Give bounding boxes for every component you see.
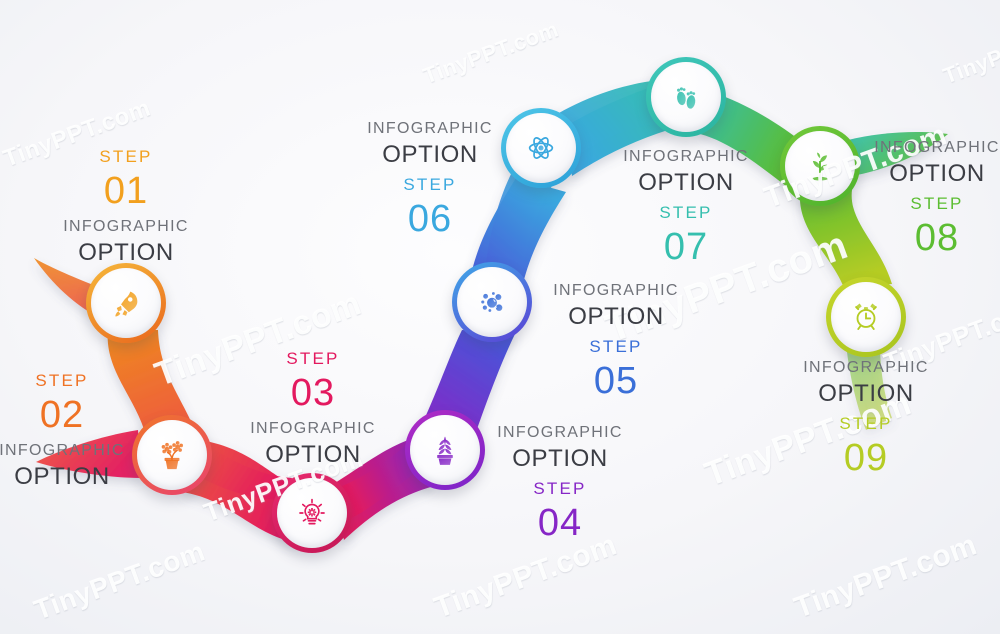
step-word-09: STEP xyxy=(756,415,976,432)
step-number-02: 02 xyxy=(0,396,172,434)
step-word-05: STEP xyxy=(506,338,726,355)
step-node-disc-07 xyxy=(651,62,721,132)
step-infographic-06: INFOGRAPHIC xyxy=(320,121,540,137)
footprints-icon xyxy=(669,80,703,114)
step-node-disc-09 xyxy=(831,282,901,352)
step-text-04: INFOGRAPHICOPTIONSTEP04 xyxy=(450,425,670,542)
lightbulb-gear-icon xyxy=(295,496,329,530)
step-infographic-07: INFOGRAPHIC xyxy=(576,149,796,165)
step-word-06: STEP xyxy=(320,176,540,193)
step-text-09: INFOGRAPHICOPTIONSTEP09 xyxy=(756,360,976,477)
step-text-06: INFOGRAPHICOPTIONSTEP06 xyxy=(320,121,540,238)
step-number-03: 03 xyxy=(203,374,423,412)
step-number-01: 01 xyxy=(16,172,236,210)
step-node-03[interactable] xyxy=(272,473,352,553)
step-text-01: STEP01INFOGRAPHICOPTION xyxy=(16,148,236,265)
step-word-02: STEP xyxy=(0,372,172,389)
step-option-09: OPTION xyxy=(756,382,976,406)
step-infographic-04: INFOGRAPHIC xyxy=(450,425,670,441)
step-number-07: 07 xyxy=(576,228,796,266)
step-infographic-08: INFOGRAPHIC xyxy=(827,140,1000,156)
step-option-05: OPTION xyxy=(506,305,726,329)
step-option-02: OPTION xyxy=(0,465,172,489)
step-infographic-01: INFOGRAPHIC xyxy=(16,219,236,235)
step-infographic-03: INFOGRAPHIC xyxy=(203,421,423,437)
step-node-07[interactable] xyxy=(646,57,726,137)
rocket-icon xyxy=(109,286,143,320)
step-node-disc-03 xyxy=(277,478,347,548)
step-option-06: OPTION xyxy=(320,143,540,167)
step-word-07: STEP xyxy=(576,204,796,221)
step-node-09[interactable] xyxy=(826,277,906,357)
step-infographic-09: INFOGRAPHIC xyxy=(756,360,976,376)
molecule-bubbles-icon xyxy=(475,285,509,319)
step-word-03: STEP xyxy=(203,350,423,367)
step-option-07: OPTION xyxy=(576,171,796,195)
step-word-04: STEP xyxy=(450,480,670,497)
step-option-01: OPTION xyxy=(16,241,236,265)
step-word-08: STEP xyxy=(827,195,1000,212)
step-number-06: 06 xyxy=(320,200,540,238)
step-option-04: OPTION xyxy=(450,447,670,471)
step-text-07: INFOGRAPHICOPTIONSTEP07 xyxy=(576,149,796,266)
step-option-03: OPTION xyxy=(203,443,423,467)
step-text-05: INFOGRAPHICOPTIONSTEP05 xyxy=(506,283,726,400)
step-infographic-02: INFOGRAPHIC xyxy=(0,443,172,459)
step-text-08: INFOGRAPHICOPTIONSTEP08 xyxy=(827,140,1000,257)
step-node-01[interactable] xyxy=(86,263,166,343)
step-infographic-05: INFOGRAPHIC xyxy=(506,283,726,299)
step-node-disc-01 xyxy=(91,268,161,338)
step-number-05: 05 xyxy=(506,362,726,400)
step-number-04: 04 xyxy=(450,504,670,542)
step-text-02: STEP02INFOGRAPHICOPTION xyxy=(0,372,172,489)
infographic-canvas: STEP01INFOGRAPHICOPTIONSTEP02INFOGRAPHIC… xyxy=(0,0,1000,634)
step-option-08: OPTION xyxy=(827,162,1000,186)
step-number-08: 08 xyxy=(827,219,1000,257)
step-text-03: STEP03INFOGRAPHICOPTION xyxy=(203,350,423,467)
alarm-clock-icon xyxy=(849,300,883,334)
step-word-01: STEP xyxy=(16,148,236,165)
step-number-09: 09 xyxy=(756,439,976,477)
